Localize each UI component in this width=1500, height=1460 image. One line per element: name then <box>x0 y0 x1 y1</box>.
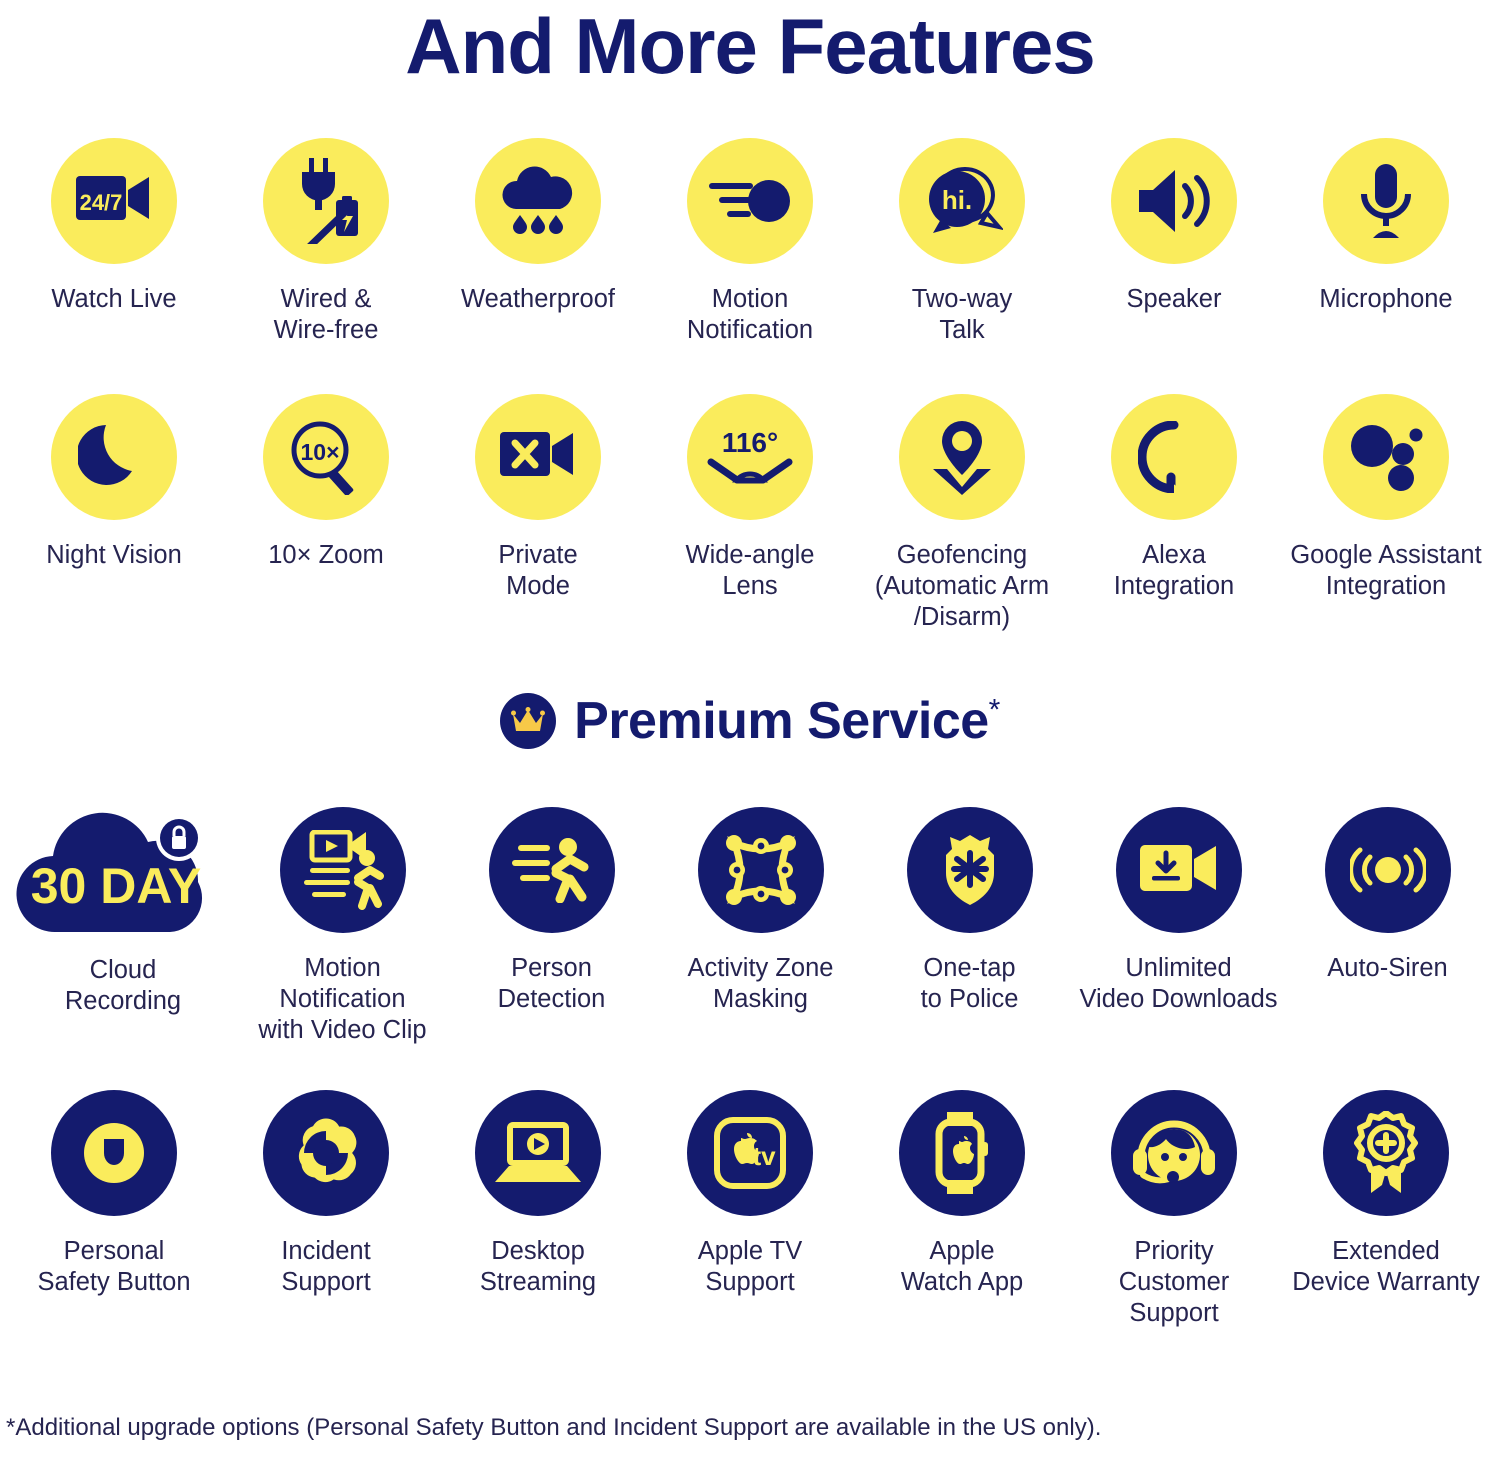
feature-label: Desktop Streaming <box>480 1236 596 1298</box>
microphone-icon <box>1323 138 1449 264</box>
police-badge-icon <box>907 807 1033 933</box>
feature-label: Extended Device Warranty <box>1292 1236 1480 1298</box>
svg-text:10×: 10× <box>300 439 339 465</box>
headset-agent-icon <box>1111 1090 1237 1216</box>
feature-unlimited-video-downloads[interactable]: Unlimited Video Downloads <box>1074 807 1283 1046</box>
feature-label: Priority Customer Support <box>1119 1236 1230 1329</box>
safety-button-icon <box>51 1090 177 1216</box>
crescent-moon-icon <box>51 394 177 520</box>
feature-label: Person Detection <box>498 953 606 1015</box>
feature-label: Personal Safety Button <box>37 1236 190 1298</box>
feature-label: Microphone <box>1319 284 1452 315</box>
rain-cloud-icon <box>475 138 601 264</box>
svg-text:hi.: hi. <box>942 185 972 215</box>
feature-person-detection[interactable]: Person Detection <box>447 807 656 1046</box>
feature-label: Incident Support <box>281 1236 370 1298</box>
feature-incident-support[interactable]: Incident Support <box>220 1090 432 1329</box>
feature-motion-notification[interactable]: Motion Notification <box>644 138 856 346</box>
feature-two-way-talk[interactable]: hi. Two-way Talk <box>856 138 1068 346</box>
svg-text:116°: 116° <box>722 427 778 458</box>
feature-label: Speaker <box>1127 284 1222 315</box>
feature-alexa-integration[interactable]: Alexa Integration <box>1068 394 1280 633</box>
feature-label: Activity Zone Masking <box>688 953 834 1015</box>
feature-speaker[interactable]: Speaker <box>1068 138 1280 346</box>
motion-lines-icon <box>687 138 813 264</box>
feature-label: Motion Notification with Video Clip <box>258 953 426 1046</box>
feature-night-vision[interactable]: Night Vision <box>8 394 220 633</box>
feature-label: 10× Zoom <box>268 540 384 571</box>
feature-label: Two-way Talk <box>912 284 1013 346</box>
feature-extended-device-warranty[interactable]: Extended Device Warranty <box>1280 1090 1492 1329</box>
features-page: And More Features 24/7 Watch Live <box>0 0 1500 1460</box>
laptop-play-icon <box>475 1090 601 1216</box>
feature-label: Private Mode <box>498 540 577 602</box>
feature-label: Geofencing (Automatic Arm /Disarm) <box>875 540 1049 633</box>
feature-label: Wired & Wire-free <box>274 284 379 346</box>
feature-motion-notification-video-clip[interactable]: Motion Notification with Video Clip <box>238 807 447 1046</box>
wide-angle-116-icon: 116° <box>687 394 813 520</box>
feature-auto-siren[interactable]: Auto-Siren <box>1283 807 1492 1046</box>
feature-cloud-recording[interactable]: 30 DAY Cloud Recording <box>8 807 238 1046</box>
video-download-icon <box>1116 807 1242 933</box>
running-person-icon <box>489 807 615 933</box>
feature-watch-live[interactable]: 24/7 Watch Live <box>8 138 220 346</box>
crown-icon <box>500 693 556 749</box>
premium-service-title: Premium Service* <box>574 691 1000 751</box>
google-assistant-dots-icon <box>1323 394 1449 520</box>
feature-label: Wide-angle Lens <box>686 540 815 602</box>
premium-grid-row-1: 30 DAY Cloud Recording Motion Notificati… <box>0 807 1500 1046</box>
feature-weatherproof[interactable]: Weatherproof <box>432 138 644 346</box>
feature-geofencing[interactable]: Geofencing (Automatic Arm /Disarm) <box>856 394 1068 633</box>
feature-apple-tv-support[interactable]: tv Apple TV Support <box>644 1090 856 1329</box>
premium-asterisk: * <box>989 694 1000 727</box>
map-pin-arrow-icon <box>899 394 1025 520</box>
magnifier-10x-icon: 10× <box>263 394 389 520</box>
premium-service-header: Premium Service* <box>0 691 1500 751</box>
feature-priority-customer-support[interactable]: Priority Customer Support <box>1068 1090 1280 1329</box>
camera-247-icon: 24/7 <box>51 138 177 264</box>
feature-label: Motion Notification <box>687 284 813 346</box>
feature-label: Apple TV Support <box>698 1236 802 1298</box>
feature-microphone[interactable]: Microphone <box>1280 138 1492 346</box>
alexa-ring-icon <box>1111 394 1237 520</box>
video-clip-runner-icon <box>280 807 406 933</box>
warranty-ribbon-icon <box>1323 1090 1449 1216</box>
camera-x-icon <box>475 394 601 520</box>
feature-google-assistant-integration[interactable]: Google Assistant Integration <box>1280 394 1492 633</box>
incident-support-icon <box>263 1090 389 1216</box>
speech-bubble-hi-icon: hi. <box>899 138 1025 264</box>
feature-label: One-tap to Police <box>921 953 1019 1015</box>
svg-text:24/7: 24/7 <box>80 190 123 215</box>
feature-desktop-streaming[interactable]: Desktop Streaming <box>432 1090 644 1329</box>
svg-text:tv: tv <box>752 1141 776 1171</box>
cloud-lock-30day-icon: 30 DAY <box>8 807 238 941</box>
footnote-text: *Additional upgrade options (Personal Sa… <box>6 1414 1101 1442</box>
feature-private-mode[interactable]: Private Mode <box>432 394 644 633</box>
feature-label: Auto-Siren <box>1327 953 1447 984</box>
feature-activity-zone-masking[interactable]: Activity Zone Masking <box>656 807 865 1046</box>
feature-label: Cloud Recording <box>65 955 181 1017</box>
feature-label: Alexa Integration <box>1114 540 1235 602</box>
premium-title-text: Premium Service <box>574 692 989 750</box>
feature-personal-safety-button[interactable]: Personal Safety Button <box>8 1090 220 1329</box>
zone-mask-icon <box>698 807 824 933</box>
feature-label: Apple Watch App <box>901 1236 1023 1298</box>
feature-wide-angle-lens[interactable]: 116° Wide-angle Lens <box>644 394 856 633</box>
premium-grid-row-2: Personal Safety Button Incident Support <box>0 1090 1500 1329</box>
feature-10x-zoom[interactable]: 10× 10× Zoom <box>220 394 432 633</box>
feature-grid-row-1: 24/7 Watch Live Wired & Wire-free <box>0 138 1500 346</box>
feature-label: Weatherproof <box>461 284 615 315</box>
feature-label: Watch Live <box>51 284 176 315</box>
speaker-icon <box>1111 138 1237 264</box>
plug-battery-slash-icon <box>263 138 389 264</box>
page-title: And More Features <box>0 0 1500 90</box>
feature-label: Unlimited Video Downloads <box>1080 953 1278 1015</box>
siren-waves-icon <box>1325 807 1451 933</box>
feature-wired-wire-free[interactable]: Wired & Wire-free <box>220 138 432 346</box>
svg-text:30 DAY: 30 DAY <box>30 858 200 914</box>
feature-label: Google Assistant Integration <box>1290 540 1481 602</box>
feature-one-tap-to-police[interactable]: One-tap to Police <box>865 807 1074 1046</box>
apple-tv-icon: tv <box>687 1090 813 1216</box>
feature-label: Night Vision <box>46 540 182 571</box>
apple-watch-icon <box>899 1090 1025 1216</box>
feature-grid-row-2: Night Vision 10× 10× Zoom Private Mod <box>0 394 1500 633</box>
feature-apple-watch-app[interactable]: Apple Watch App <box>856 1090 1068 1329</box>
